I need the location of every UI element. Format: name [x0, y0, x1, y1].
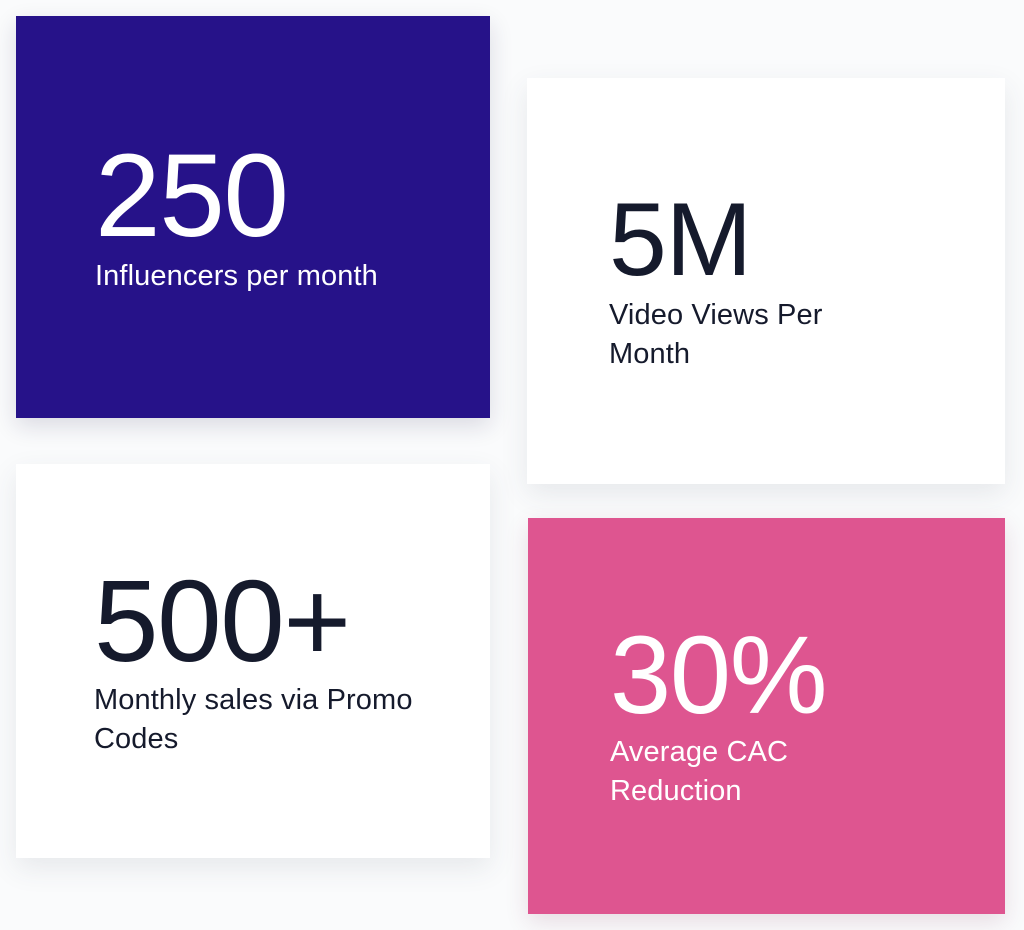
- stat-card-video-views: 5M Video Views Per Month: [527, 78, 1005, 484]
- stat-label-influencers: Influencers per month: [95, 257, 395, 296]
- stat-card-influencers: 250 Influencers per month: [16, 16, 490, 418]
- stat-value-cac-reduction: 30%: [610, 621, 965, 731]
- stat-value-influencers: 250: [95, 137, 450, 255]
- stat-label-promo-sales: Monthly sales via Promo Codes: [94, 681, 414, 760]
- stat-label-cac-reduction: Average CAC Reduction: [610, 733, 890, 812]
- stats-card-grid: 250 Influencers per month 5M Video Views…: [0, 0, 1024, 930]
- stat-label-video-views: Video Views Per Month: [609, 296, 909, 375]
- stat-value-promo-sales: 500+: [94, 563, 456, 679]
- stat-value-video-views: 5M: [609, 188, 965, 292]
- stat-card-cac-reduction: 30% Average CAC Reduction: [528, 518, 1005, 914]
- stat-card-promo-sales: 500+ Monthly sales via Promo Codes: [16, 464, 490, 858]
